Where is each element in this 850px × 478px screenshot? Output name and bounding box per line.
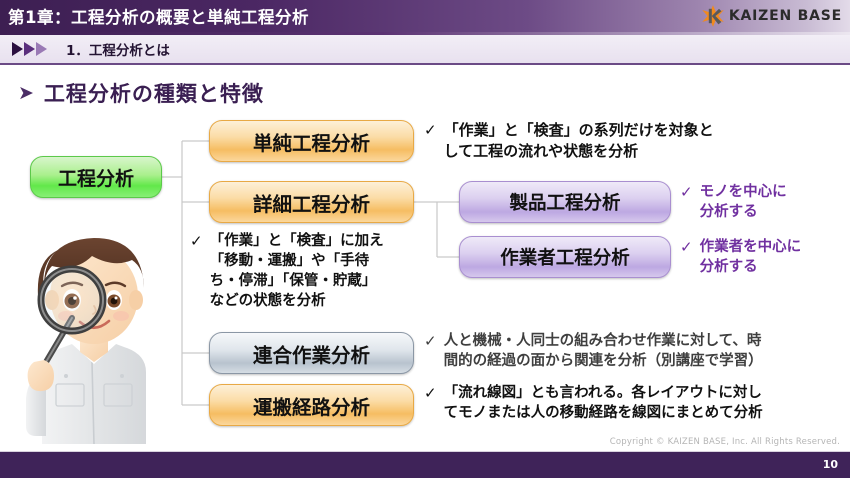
node-worker-process-analysis[interactable]: 作業者工程分析 (459, 236, 671, 278)
copyright-text: Copyright © KAIZEN BASE, Inc. All Rights… (610, 437, 840, 447)
note-simple-process-analysis: ✓ 「作業」と「検査」の系列だけを対象と して工程の流れや状態を分析 (424, 120, 844, 161)
note-worker-process-analysis: ✓ 作業者を中心に 分析する (680, 237, 850, 277)
page-number: 10 (823, 458, 838, 471)
note-line: てモノまたは人の移動経路を線図にまとめて分析 (444, 405, 763, 421)
note-line: モノを中心に (700, 184, 787, 200)
sub-header-bar: 1．工程分析とは (0, 35, 850, 63)
note-line: 分析する (700, 259, 758, 275)
section-heading: ➤ 工程分析の種類と特徴 (18, 78, 264, 108)
note-line: 「流れ線図」とも言われる。各レイアウトに対し (444, 385, 762, 401)
note-detailed-process-analysis: ✓ 「作業」と「検査」に加え 「移動・運搬」や「手待 ち・停滞」「保管・貯蔵」 … (190, 231, 440, 311)
chapter-title: 第1章：工程分析の概要と単純工程分析 (8, 4, 309, 28)
node-label: 連合作業分析 (253, 339, 370, 368)
checkmark-icon: ✓ (680, 237, 693, 257)
brand-logo: KAIZEN BASE (701, 4, 842, 28)
note-line: 人と機械・人同士の組み合わせ作業に対して、時 (444, 333, 762, 349)
note-line: などの状態を分析 (210, 293, 326, 309)
node-label: 詳細工程分析 (253, 188, 370, 217)
arrow-bullet-icon: ➤ (18, 84, 34, 103)
note-line: 作業者を中心に (700, 239, 802, 255)
note-line: 分析する (700, 204, 758, 220)
sub-header-divider (0, 63, 850, 65)
kaizen-star-k-logo-icon (701, 4, 725, 28)
node-label: 単純工程分析 (253, 127, 370, 156)
node-product-process-analysis[interactable]: 製品工程分析 (459, 181, 671, 223)
note-line: 「作業」と「検査」の系列だけを対象と (444, 121, 714, 139)
node-label: 運搬経路分析 (253, 391, 370, 420)
brand-logo-text: KAIZEN BASE (729, 8, 842, 24)
note-line: して工程の流れや状態を分析 (444, 142, 639, 160)
node-transport-route-analysis[interactable]: 運搬経路分析 (209, 384, 414, 426)
checkmark-icon: ✓ (424, 331, 437, 351)
checkmark-icon: ✓ (190, 231, 203, 251)
footer-bar (0, 452, 850, 478)
checkmark-icon: ✓ (424, 120, 437, 140)
node-label: 製品工程分析 (509, 189, 620, 215)
note-line: ち・停滞」「保管・貯蔵」 (210, 273, 377, 289)
node-detailed-process-analysis[interactable]: 詳細工程分析 (209, 181, 414, 223)
note-line: 間的の経過の面から関連を分析（別講座で学習） (444, 353, 763, 369)
node-root-process-analysis[interactable]: 工程分析 (30, 156, 162, 198)
note-line: 「移動・運搬」や「手待 (210, 253, 370, 269)
node-label: 作業者工程分析 (500, 244, 630, 270)
node-combined-work-analysis[interactable]: 連合作業分析 (209, 332, 414, 374)
slide-header: 第1章：工程分析の概要と単純工程分析 KAIZEN BASE (0, 0, 850, 32)
person-with-magnifying-glass-illustration (6, 212, 181, 444)
node-simple-process-analysis[interactable]: 単純工程分析 (209, 120, 414, 162)
page-title: 工程分析の種類と特徴 (44, 78, 264, 108)
slide: 第1章：工程分析の概要と単純工程分析 KAIZEN BASE 1．工程分析とは … (0, 0, 850, 478)
node-label: 工程分析 (58, 164, 134, 191)
note-transport-route-analysis: ✓ 「流れ線図」とも言われる。各レイアウトに対し てモノまたは人の移動経路を線図… (424, 383, 848, 423)
note-line: 「作業」と「検査」に加え (210, 233, 384, 249)
note-product-process-analysis: ✓ モノを中心に 分析する (680, 182, 850, 222)
sub-header-label: 1．工程分析とは (66, 39, 170, 59)
triple-chevron-right-icon (12, 41, 56, 57)
checkmark-icon: ✓ (680, 182, 693, 202)
note-combined-work-analysis: ✓ 人と機械・人同士の組み合わせ作業に対して、時 間的の経過の面から関連を分析（… (424, 331, 848, 371)
checkmark-icon: ✓ (424, 383, 437, 403)
